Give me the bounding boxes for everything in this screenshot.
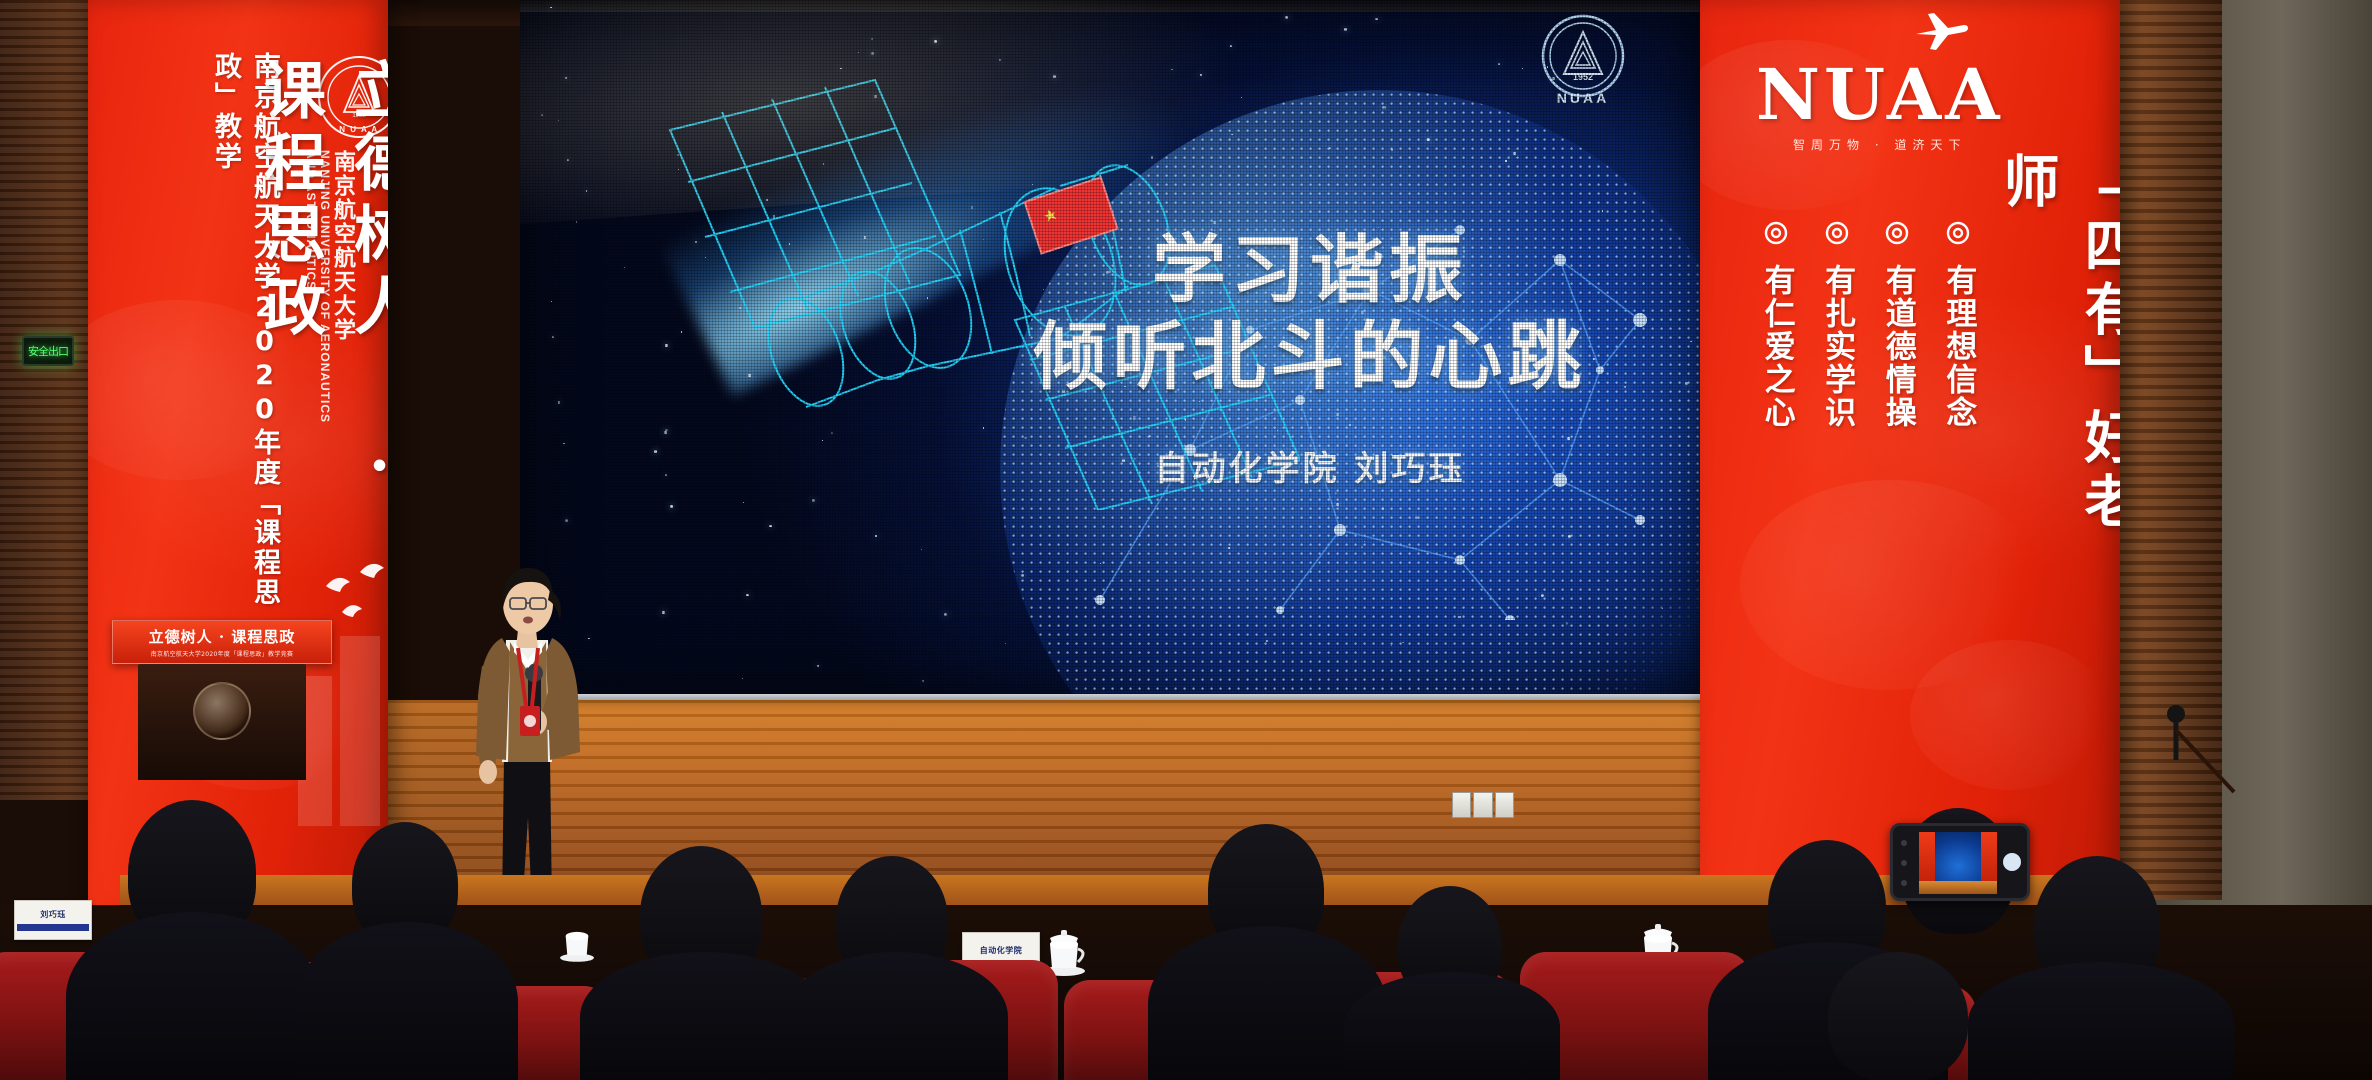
star-dot: [1344, 28, 1347, 31]
star-dot: [1266, 640, 1268, 642]
star-dot: [871, 52, 874, 55]
star-dot: [1427, 138, 1429, 140]
ring-bullet-icon: [1945, 220, 1971, 246]
podium-sign: 立德树人 · 课程思政 南京航空航天大学2020年度「课程思政」教学竞赛: [112, 620, 332, 664]
slide-title-line-1: 学习谐振: [950, 230, 1670, 311]
presenter-speaker: [452, 556, 602, 926]
phone-screen: [1919, 832, 1997, 894]
virtue-column: 有理想信念: [1940, 220, 1977, 435]
phone-camera-icon: [1901, 840, 1907, 846]
name-card-text: 自动化学院: [980, 945, 1023, 956]
slide-presenter-line: 自动化学院 刘巧珏: [950, 441, 1670, 490]
banner-left-calligraphy: 立德树人 · 课程思政: [244, 58, 388, 578]
star-dot: [944, 613, 947, 616]
nuaa-wordmark: NUAA 智周万物 · 道济天下: [1756, 60, 2004, 153]
teacup: [556, 918, 598, 962]
star-dot: [1690, 341, 1692, 343]
star-dot: [742, 678, 743, 679]
speaker-podium: 立德树人 · 课程思政 南京航空航天大学2020年度「课程思政」教学竞赛: [112, 620, 332, 780]
star-dot: [624, 267, 625, 268]
star-dot: [565, 519, 568, 522]
star-dot: [662, 611, 665, 614]
left-red-banner: 1952 N U A A 南京航空航天大学 NANJING UNIVERSITY…: [88, 0, 388, 920]
virtue-text: 有道德情操: [1879, 257, 1916, 435]
star-dot: [1375, 18, 1378, 21]
virtue-column: 有仁爱之心: [1758, 220, 1795, 435]
podium-body: [138, 664, 306, 780]
star-dot: [999, 59, 1001, 61]
star-dot: [558, 120, 560, 122]
name-card: 刘巧珏: [14, 900, 92, 940]
audience-person-shoulders: [784, 952, 1008, 1080]
airplane-icon: [1912, 8, 1970, 52]
star-dot: [1522, 68, 1523, 69]
star-dot: [1285, 16, 1288, 19]
star-dot: [1505, 160, 1507, 162]
star-dot: [921, 549, 923, 551]
wall-socket: [1473, 792, 1492, 818]
star-dot: [875, 535, 877, 537]
virtue-text: 有仁爱之心: [1758, 257, 1795, 435]
star-dot: [552, 336, 554, 338]
microphone-stand-icon: [2150, 700, 2240, 840]
banner-right-headline: 「四有」好老师: [1986, 152, 2120, 582]
star-dot: [654, 450, 657, 453]
audience-person-head: [1828, 952, 1968, 1080]
nuaa-motto: 智周万物 · 道济天下: [1756, 136, 2004, 153]
star-dot: [858, 52, 859, 53]
star-dot: [817, 665, 818, 666]
star-dot: [1391, 645, 1392, 646]
star-dot: [1230, 45, 1232, 47]
star-dot: [1021, 574, 1024, 577]
star-dot: [769, 525, 772, 528]
nuaa-logo-text: NUAA: [1557, 90, 1609, 106]
star-dot: [1005, 643, 1006, 644]
star-dot: [1391, 149, 1393, 151]
audience-person-shoulders: [1968, 962, 2234, 1080]
virtue-column: 有道德情操: [1879, 220, 1916, 435]
audience-person-shoulders: [66, 912, 320, 1080]
star-dot: [576, 221, 578, 223]
phone-camera-icon: [1901, 860, 1907, 866]
star-dot: [1329, 147, 1331, 149]
virtue-text: 有扎实学识: [1819, 257, 1856, 435]
right-red-banner: NUAA 智周万物 · 道济天下 「四有」好老师 有理想信念 有道德情操: [1700, 0, 2120, 900]
podium-sign-calligraphy: 立德树人 · 课程思政: [149, 626, 296, 647]
podium-sign-subtitle: 南京航空航天大学2020年度「课程思政」教学竞赛: [151, 649, 293, 658]
name-card-bar: [17, 924, 89, 931]
emergency-exit-sign: 安全出口: [22, 336, 74, 366]
star-dot: [567, 159, 569, 161]
audience-person-shoulders: [296, 922, 518, 1080]
star-dot: [541, 114, 543, 116]
star-dot: [1498, 63, 1500, 65]
star-dot: [550, 7, 551, 8]
exit-sign-label: 安全出口: [28, 346, 68, 357]
star-dot: [1566, 622, 1569, 625]
phone-screen-floor: [1919, 881, 1997, 894]
auditorium-scene: 安全出口: [0, 0, 2372, 1080]
star-dot: [1685, 382, 1688, 385]
phone-camera-icon: [1901, 880, 1907, 886]
podium-emblem: [193, 682, 251, 740]
star-dot: [934, 40, 937, 43]
wall-socket: [1495, 792, 1514, 818]
star-dot: [1402, 642, 1403, 643]
star-dot: [563, 443, 565, 445]
star-dot: [1513, 152, 1516, 155]
ring-bullet-icon: [1763, 220, 1789, 246]
audience-person-shoulders: [1344, 972, 1560, 1080]
smartphone-recording: [1890, 823, 2030, 901]
slide-title-line-2: 倾听北斗的心跳: [950, 317, 1670, 398]
cloud-watermark: [1910, 640, 2110, 790]
star-dot: [1382, 106, 1385, 109]
virtue-column: 有扎实学识: [1819, 220, 1856, 435]
ring-bullet-icon: [1884, 220, 1910, 246]
star-dot: [586, 190, 587, 191]
ring-bullet-icon: [1824, 220, 1850, 246]
slide-text-block: 学习谐振 倾听北斗的心跳 自动化学院 刘巧珏: [950, 230, 1670, 490]
four-virtues-block: 有理想信念 有道德情操 有扎实学识: [1758, 220, 1976, 435]
nuaa-wordmark-text: NUAA: [1756, 60, 2004, 130]
virtue-text: 有理想信念: [1940, 257, 1977, 435]
star-dot: [871, 38, 873, 40]
led-presentation-screen: 1952 NUAA 学习谐振 倾听北斗的心跳 自动化学院 刘巧珏: [520, 0, 1700, 700]
phone-shutter-button[interactable]: [2003, 853, 2021, 871]
star-dot: [551, 301, 552, 302]
name-card-text: 刘巧珏: [40, 909, 66, 920]
nuaa-logo-icon: 1952 NUAA: [1528, 8, 1638, 110]
wall-socket: [1452, 792, 1471, 818]
star-dot: [565, 77, 567, 79]
star-dot: [746, 594, 748, 596]
wall-sockets: [1452, 792, 1514, 818]
star-dot: [922, 680, 924, 682]
nuaa-logo-year: 1952: [1573, 72, 1593, 82]
star-dot: [558, 401, 560, 403]
